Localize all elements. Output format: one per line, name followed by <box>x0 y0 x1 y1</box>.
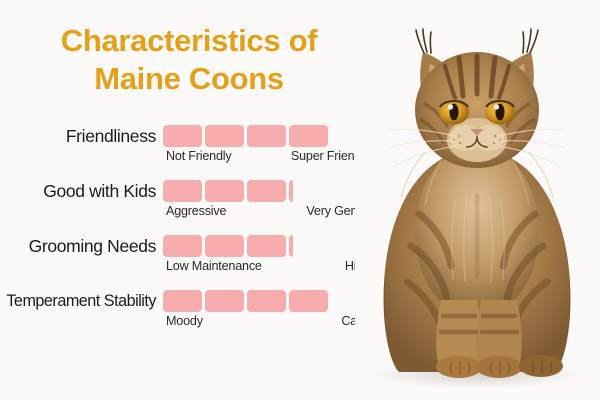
title-line-2: Maine Coons <box>6 60 372 98</box>
scale-label-low: Not Friendly <box>163 149 232 163</box>
bar-segment <box>163 290 202 312</box>
bar-segment <box>205 125 244 147</box>
bar-segment <box>205 235 244 257</box>
rating-label-friendliness: Friendliness <box>0 126 163 147</box>
bar-segment <box>247 125 286 147</box>
bar-segment <box>289 290 328 312</box>
bar-segment <box>247 235 286 257</box>
rating-row-main: Good with Kids <box>0 177 380 205</box>
bar-segment <box>163 125 202 147</box>
bar-segment <box>289 125 328 147</box>
rating-row-main: Temperament Stability <box>0 287 380 315</box>
bar-segment <box>205 290 244 312</box>
ratings-list: Friendliness Not Friendly Super Friendly… <box>0 122 380 342</box>
rating-scale-captions: Not Friendly Super Friendly <box>163 149 378 163</box>
rating-bar-temperament-stability <box>163 290 328 312</box>
rating-row-main: Friendliness <box>0 122 380 150</box>
rating-bar-good-with-kids <box>163 180 328 202</box>
rating-scale-captions: Moody Calm <box>163 314 378 328</box>
bar-segment <box>247 290 286 312</box>
bar-segment <box>163 235 202 257</box>
rating-label-grooming-needs: Grooming Needs <box>0 236 163 257</box>
rating-row-good-with-kids: Good with Kids Aggressive Very Gentle <box>0 177 380 232</box>
rating-row-grooming-needs: Grooming Needs Low Maintenance High <box>0 232 380 287</box>
maine-coon-cat-photo <box>355 0 600 400</box>
bar-segment <box>289 180 328 202</box>
rating-scale-captions: Aggressive Very Gentle <box>163 204 378 218</box>
scale-label-low: Low Maintenance <box>163 259 262 273</box>
rating-label-temperament-stability: Temperament Stability <box>0 292 163 311</box>
scale-label-low: Moody <box>163 314 203 328</box>
scale-label-low: Aggressive <box>163 204 226 218</box>
title-line-1: Characteristics of <box>6 22 372 60</box>
rating-label-good-with-kids: Good with Kids <box>0 181 163 202</box>
bar-segment <box>247 180 286 202</box>
rating-bar-grooming-needs <box>163 235 328 257</box>
rating-row-main: Grooming Needs <box>0 232 380 260</box>
bar-segment <box>289 235 328 257</box>
rating-bar-friendliness <box>163 125 328 147</box>
rating-row-friendliness: Friendliness Not Friendly Super Friendly <box>0 122 380 177</box>
rating-scale-captions: Low Maintenance High <box>163 259 378 273</box>
page-title: Characteristics of Maine Coons <box>0 22 372 98</box>
bar-segment <box>205 180 244 202</box>
infographic-canvas: Characteristics of Maine Coons Friendlin… <box>0 0 600 400</box>
rating-row-temperament-stability: Temperament Stability Moody Calm <box>0 287 380 342</box>
bar-segment <box>163 180 202 202</box>
